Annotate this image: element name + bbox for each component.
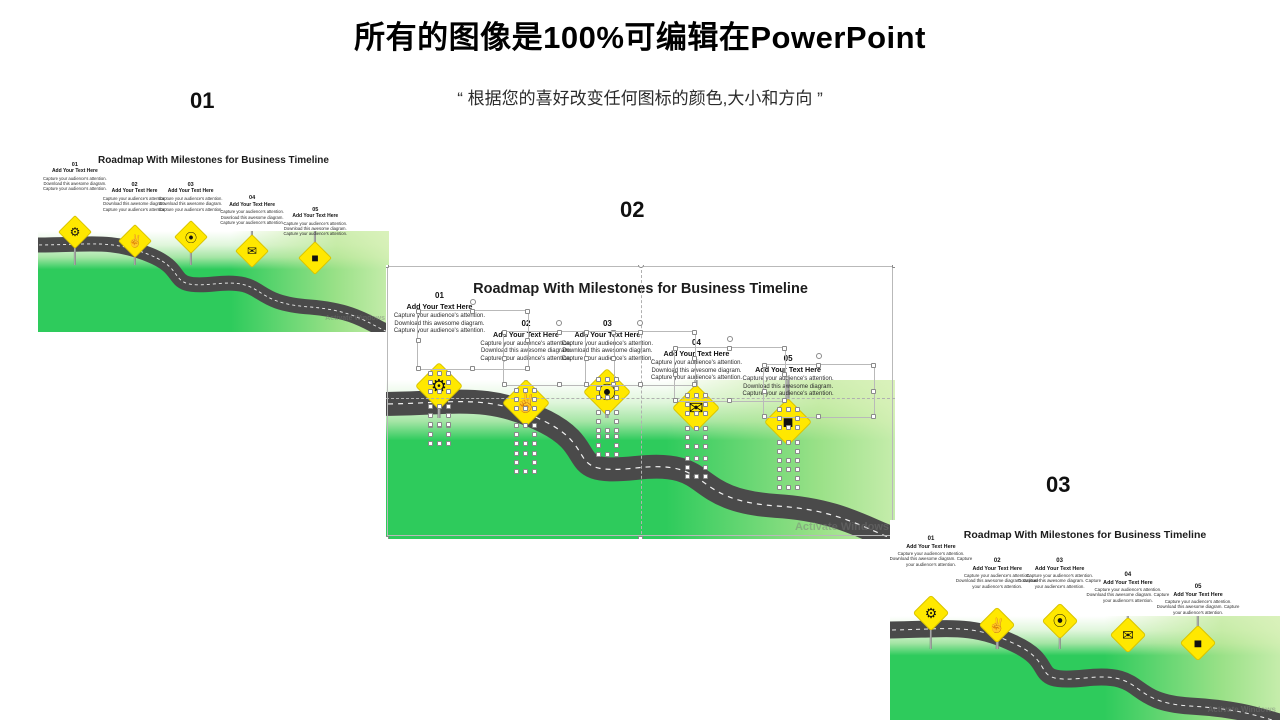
- milestone-body: Capture your audience's attention. Downl…: [1155, 599, 1241, 616]
- object-handle[interactable]: [786, 407, 791, 412]
- object-handle[interactable]: [795, 416, 800, 421]
- object-handle[interactable]: [523, 451, 528, 456]
- selection-guide-vertical: [641, 265, 642, 539]
- object-handle[interactable]: [446, 380, 451, 385]
- object-handle[interactable]: [694, 411, 699, 416]
- object-handle[interactable]: [446, 371, 451, 376]
- object-handle[interactable]: [523, 469, 528, 474]
- resize-handle[interactable]: [557, 330, 562, 335]
- object-handle[interactable]: [614, 419, 619, 424]
- resize-handle-bm[interactable]: [638, 536, 643, 539]
- object-handle[interactable]: [786, 425, 791, 430]
- rotation-handle[interactable]: [727, 336, 733, 342]
- object-handle[interactable]: [437, 422, 442, 427]
- object-handle[interactable]: [428, 380, 433, 385]
- object-handle[interactable]: [437, 404, 442, 409]
- object-handle[interactable]: [685, 465, 690, 470]
- object-handle[interactable]: [596, 377, 601, 382]
- object-handle[interactable]: [614, 395, 619, 400]
- lightbulb-gear-icon: ⚙: [64, 221, 86, 243]
- milestone-group: 01Add Your Text HereCapture your audienc…: [38, 145, 389, 332]
- object-handle[interactable]: [532, 469, 537, 474]
- resize-handle[interactable]: [557, 382, 562, 387]
- milestone-05[interactable]: 05Add Your Text HereCapture your audienc…: [277, 207, 354, 237]
- object-handle[interactable]: [795, 467, 800, 472]
- object-handle[interactable]: [532, 441, 537, 446]
- step-number-01: 01: [190, 88, 214, 114]
- handshake-icon: ✌: [124, 230, 146, 252]
- resize-handle[interactable]: [762, 363, 767, 368]
- object-handle[interactable]: [694, 393, 699, 398]
- object-handle[interactable]: [777, 467, 782, 472]
- object-handle[interactable]: [437, 371, 442, 376]
- object-handle[interactable]: [514, 451, 519, 456]
- object-handle[interactable]: [685, 474, 690, 479]
- object-handle[interactable]: [703, 402, 708, 407]
- object-handle[interactable]: [437, 389, 442, 394]
- resize-handle-bl[interactable]: [386, 536, 389, 539]
- object-handle[interactable]: [685, 444, 690, 449]
- object-handle[interactable]: [777, 449, 782, 454]
- object-handle[interactable]: [777, 440, 782, 445]
- object-handle[interactable]: [523, 423, 528, 428]
- object-handle[interactable]: [777, 407, 782, 412]
- object-handle[interactable]: [777, 458, 782, 463]
- screenshot-root: 所有的图像是100%可编辑在PowerPoint “ 根据您的喜好改变任何图标的…: [0, 0, 1280, 720]
- resize-handle[interactable]: [816, 414, 821, 419]
- resize-handle[interactable]: [470, 366, 475, 371]
- object-handle[interactable]: [605, 395, 610, 400]
- object-handle[interactable]: [703, 444, 708, 449]
- object-handle[interactable]: [446, 404, 451, 409]
- object-handle[interactable]: [428, 432, 433, 437]
- object-handle[interactable]: [795, 407, 800, 412]
- resize-handle[interactable]: [727, 346, 732, 351]
- milestone-heading: Add Your Text Here: [1017, 566, 1103, 572]
- slide-thumbnail-03[interactable]: Roadmap With Milestones for Business Tim…: [890, 520, 1280, 720]
- rotation-handle[interactable]: [816, 353, 822, 359]
- object-handle[interactable]: [596, 386, 601, 391]
- resize-handle[interactable]: [762, 414, 767, 419]
- object-handle[interactable]: [703, 426, 708, 431]
- object-handle[interactable]: [795, 476, 800, 481]
- milestone-sign-03[interactable]: ⦿: [174, 220, 208, 254]
- object-handle[interactable]: [596, 419, 601, 424]
- resize-handle[interactable]: [470, 309, 475, 314]
- object-handle[interactable]: [523, 406, 528, 411]
- milestone-heading: Add Your Text Here: [1155, 592, 1241, 598]
- milestone-number: 03: [1017, 558, 1103, 565]
- resize-handle[interactable]: [782, 346, 787, 351]
- slide-canvas: Roadmap With Milestones for Business Tim…: [38, 145, 389, 332]
- object-handle[interactable]: [437, 441, 442, 446]
- object-handle[interactable]: [795, 425, 800, 430]
- milestone-sign-05[interactable]: ■: [1180, 625, 1217, 662]
- object-handle[interactable]: [685, 402, 690, 407]
- slide-thumbnail-02[interactable]: Roadmap With Milestones for Business Tim…: [386, 265, 895, 539]
- object-handle[interactable]: [532, 388, 537, 393]
- resize-handle[interactable]: [416, 338, 421, 343]
- object-handle[interactable]: [786, 458, 791, 463]
- object-handle[interactable]: [523, 441, 528, 446]
- step-number-02: 02: [620, 197, 644, 223]
- object-handle[interactable]: [514, 423, 519, 428]
- object-handle[interactable]: [514, 460, 519, 465]
- object-handle[interactable]: [685, 411, 690, 416]
- resize-handle[interactable]: [673, 346, 678, 351]
- object-handle[interactable]: [614, 452, 619, 457]
- object-handle[interactable]: [532, 406, 537, 411]
- resize-handle[interactable]: [584, 382, 589, 387]
- object-handle[interactable]: [428, 413, 433, 418]
- object-handle[interactable]: [532, 451, 537, 456]
- milestone-number: 05: [1155, 584, 1241, 591]
- object-handle[interactable]: [614, 428, 619, 433]
- object-handle[interactable]: [685, 435, 690, 440]
- lightbulb-gear-icon: ⚙: [919, 601, 943, 625]
- resize-handle[interactable]: [638, 382, 643, 387]
- milestone-number: 05: [277, 207, 354, 213]
- resize-handle[interactable]: [871, 389, 876, 394]
- object-handle[interactable]: [523, 388, 528, 393]
- money-bag-wings-icon: ✉: [1116, 623, 1140, 647]
- object-handle[interactable]: [428, 371, 433, 376]
- object-handle[interactable]: [532, 397, 537, 402]
- object-handle[interactable]: [596, 452, 601, 457]
- object-handle[interactable]: [685, 426, 690, 431]
- object-handle[interactable]: [685, 393, 690, 398]
- milestone-sign-04[interactable]: ✉: [235, 234, 269, 268]
- milestone-heading: Add Your Text Here: [38, 169, 113, 175]
- resize-handle[interactable]: [416, 366, 421, 371]
- rotation-handle[interactable]: [556, 320, 562, 326]
- object-handle[interactable]: [694, 456, 699, 461]
- resize-handle[interactable]: [525, 309, 530, 314]
- page-title: 所有的图像是100%可编辑在PowerPoint: [0, 12, 1280, 57]
- object-handle[interactable]: [614, 386, 619, 391]
- milestone-sign-01[interactable]: ⚙: [913, 595, 950, 632]
- milestone-sign-03[interactable]: ⦿: [1041, 603, 1078, 640]
- object-handle[interactable]: [532, 423, 537, 428]
- resize-handle[interactable]: [584, 330, 589, 335]
- object-handle[interactable]: [605, 410, 610, 415]
- milestone-number: 04: [214, 195, 291, 201]
- slide-thumbnail-01[interactable]: Roadmap With Milestones for Business Tim…: [38, 145, 389, 332]
- object-handle[interactable]: [532, 460, 537, 465]
- object-handle[interactable]: [532, 432, 537, 437]
- resize-handle[interactable]: [673, 372, 678, 377]
- object-handle[interactable]: [777, 416, 782, 421]
- resize-handle[interactable]: [692, 330, 697, 335]
- milestone-body: Capture your audience's attention. Downl…: [277, 221, 354, 237]
- object-handle[interactable]: [694, 474, 699, 479]
- target-dart-icon: ⦿: [1048, 609, 1072, 633]
- object-handle[interactable]: [685, 456, 690, 461]
- object-handle[interactable]: [703, 456, 708, 461]
- step-number-03: 03: [1046, 472, 1070, 498]
- object-handle[interactable]: [446, 389, 451, 394]
- object-handle[interactable]: [795, 485, 800, 490]
- handshake-icon: ✌: [985, 613, 1009, 637]
- object-handle[interactable]: [446, 432, 451, 437]
- object-handle[interactable]: [703, 435, 708, 440]
- milestone-group: 01Add Your Text HereCapture your audienc…: [890, 520, 1280, 720]
- object-handle[interactable]: [514, 406, 519, 411]
- milestone-number: 04: [1085, 572, 1171, 579]
- slide-canvas: Roadmap With Milestones for Business Tim…: [890, 520, 1280, 720]
- resize-handle[interactable]: [502, 356, 507, 361]
- briefcase-icon: ■: [1186, 631, 1210, 655]
- object-handle[interactable]: [596, 428, 601, 433]
- resize-handle[interactable]: [502, 382, 507, 387]
- resize-handle[interactable]: [762, 389, 767, 394]
- milestone-heading: Add Your Text Here: [152, 189, 229, 195]
- resize-handle[interactable]: [871, 363, 876, 368]
- object-handle[interactable]: [703, 411, 708, 416]
- resize-handle[interactable]: [727, 398, 732, 403]
- object-handle[interactable]: [596, 434, 601, 439]
- resize-handle-tl[interactable]: [386, 265, 389, 268]
- object-handle[interactable]: [786, 485, 791, 490]
- object-handle[interactable]: [614, 443, 619, 448]
- object-handle[interactable]: [514, 441, 519, 446]
- resize-handle[interactable]: [502, 330, 507, 335]
- milestone-number: 01: [38, 162, 113, 168]
- milestone-sign-02[interactable]: ✌: [979, 607, 1016, 644]
- object-handle[interactable]: [514, 469, 519, 474]
- rotation-handle[interactable]: [470, 299, 476, 305]
- milestone-05[interactable]: 05Add Your Text HereCapture your audienc…: [1155, 584, 1241, 615]
- object-handle[interactable]: [428, 404, 433, 409]
- object-handle[interactable]: [605, 428, 610, 433]
- object-handle[interactable]: [795, 440, 800, 445]
- resize-handle[interactable]: [638, 330, 643, 335]
- object-handle[interactable]: [786, 440, 791, 445]
- milestone-heading: Add Your Text Here: [277, 214, 354, 220]
- object-handle[interactable]: [795, 458, 800, 463]
- object-handle[interactable]: [703, 465, 708, 470]
- resize-handle[interactable]: [584, 356, 589, 361]
- slide-canvas: Roadmap With Milestones for Business Tim…: [386, 265, 895, 539]
- object-handle[interactable]: [605, 452, 610, 457]
- resize-handle[interactable]: [816, 363, 821, 368]
- resize-handle[interactable]: [416, 309, 421, 314]
- object-handle[interactable]: [446, 413, 451, 418]
- object-handle[interactable]: [514, 432, 519, 437]
- object-handle[interactable]: [614, 434, 619, 439]
- target-dart-icon: ⦿: [180, 226, 202, 248]
- resize-handle[interactable]: [673, 398, 678, 403]
- resize-handle-tr[interactable]: [892, 265, 895, 268]
- object-handle[interactable]: [428, 389, 433, 394]
- milestone-heading: Add Your Text Here: [890, 544, 974, 550]
- milestone-sign-01[interactable]: ⚙: [58, 215, 92, 249]
- milestone-sign-05[interactable]: ■: [298, 241, 332, 275]
- object-handle[interactable]: [596, 443, 601, 448]
- object-handle[interactable]: [703, 474, 708, 479]
- object-handle[interactable]: [786, 467, 791, 472]
- object-handle[interactable]: [428, 441, 433, 446]
- milestone-sign-02[interactable]: ✌: [118, 224, 152, 258]
- object-handle[interactable]: [446, 422, 451, 427]
- object-handle[interactable]: [614, 377, 619, 382]
- object-handle[interactable]: [446, 441, 451, 446]
- object-handle[interactable]: [777, 425, 782, 430]
- milestone-sign-04[interactable]: ✉: [1110, 617, 1147, 654]
- object-handle[interactable]: [777, 485, 782, 490]
- object-handle[interactable]: [428, 422, 433, 427]
- milestone-number: 01: [890, 536, 974, 543]
- object-handle[interactable]: [596, 395, 601, 400]
- briefcase-icon: ■: [304, 247, 326, 269]
- object-handle[interactable]: [605, 434, 610, 439]
- object-handle[interactable]: [777, 476, 782, 481]
- object-handle[interactable]: [514, 397, 519, 402]
- object-handle[interactable]: [703, 393, 708, 398]
- object-handle[interactable]: [795, 449, 800, 454]
- object-handle[interactable]: [514, 388, 519, 393]
- resize-handle[interactable]: [871, 414, 876, 419]
- money-bag-wings-icon: ✉: [241, 240, 263, 262]
- object-handle[interactable]: [605, 377, 610, 382]
- object-handle[interactable]: [596, 410, 601, 415]
- object-handle[interactable]: [614, 410, 619, 415]
- object-handle[interactable]: [694, 426, 699, 431]
- object-handle[interactable]: [694, 444, 699, 449]
